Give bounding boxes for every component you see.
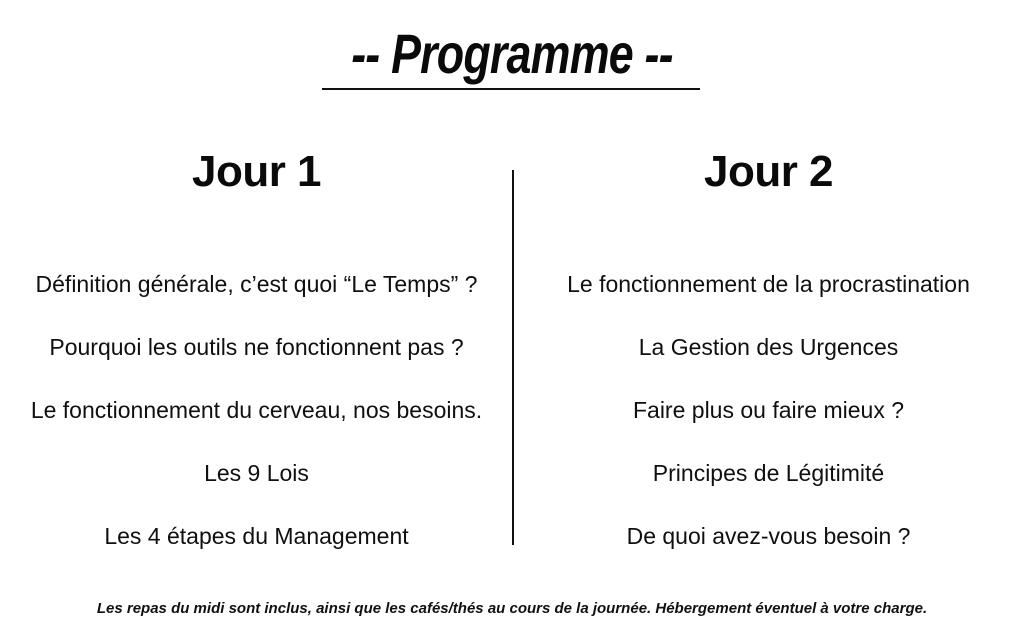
list-item: Le fonctionnement de la procrastination (513, 252, 1024, 315)
list-item: Le fonctionnement du cerveau, nos besoin… (0, 378, 513, 441)
list-item: Principes de Légitimité (513, 441, 1024, 504)
column-jour-1: Jour 1 Définition générale, c’est quoi “… (0, 140, 513, 560)
topic-list-jour-2: Le fonctionnement de la procrastination … (513, 252, 1024, 567)
page-title: -- Programme -- (351, 22, 673, 86)
footer-note: Les repas du midi sont inclus, ainsi que… (0, 598, 1024, 620)
list-item: Définition générale, c’est quoi “Le Temp… (0, 252, 513, 315)
list-item: Pourquoi les outils ne fonctionnent pas … (0, 315, 513, 378)
day-heading-1: Jour 1 (0, 140, 513, 198)
column-jour-2: Jour 2 Le fonctionnement de la procrasti… (513, 140, 1024, 560)
list-item: Les 4 étapes du Management (0, 504, 513, 567)
programme-slide: -- Programme -- Jour 1 Définition généra… (0, 0, 1024, 642)
list-item: Faire plus ou faire mieux ? (513, 378, 1024, 441)
list-item: La Gestion des Urgences (513, 315, 1024, 378)
title-underline-rule (322, 88, 700, 90)
list-item: Les 9 Lois (0, 441, 513, 504)
day-heading-2: Jour 2 (513, 140, 1024, 198)
title-block: -- Programme -- (0, 22, 1024, 86)
column-divider (512, 170, 514, 545)
list-item: De quoi avez-vous besoin ? (513, 504, 1024, 567)
topic-list-jour-1: Définition générale, c’est quoi “Le Temp… (0, 252, 513, 567)
